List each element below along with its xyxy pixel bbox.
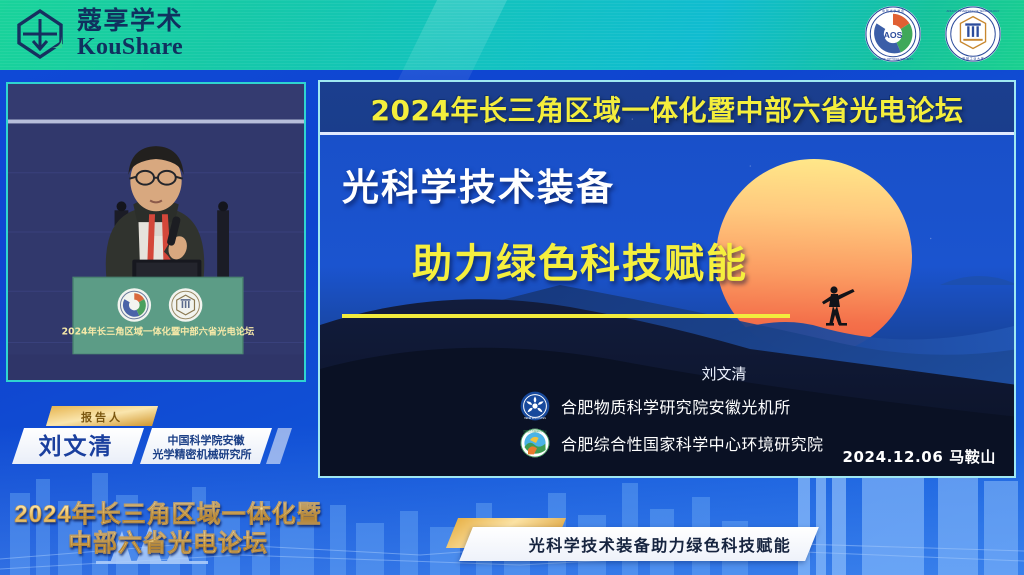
speaker-video-frame: 2024年长三角区域一体化暨中部六省光电论坛: [8, 84, 304, 380]
svg-text:ANHUI UNIVERSITY OF TECHNOLOGY: ANHUI UNIVERSITY OF TECHNOLOGY: [947, 9, 1000, 13]
hiker-silhouette-icon: [818, 283, 858, 327]
hefei-comprehensive-national-science-center-logo-icon: 合肥综合性国家科学中心: [520, 428, 550, 458]
koushare-diamond-logo-icon: [14, 8, 66, 60]
svg-text:中 国 光 学 学 会: 中 国 光 学 学 会: [882, 8, 904, 13]
conference-title-line2: 中部六省光电论坛: [8, 529, 328, 558]
brand-logo-block[interactable]: 蔻享学术 KouShare: [14, 8, 183, 60]
stream-page: 蔻享学术 KouShare AOS 中 国 光 学 学 会 CHINESE OP…: [0, 0, 1024, 575]
svg-text:CHINESE OPTICAL SOCIETY: CHINESE OPTICAL SOCIETY: [873, 57, 914, 61]
slide-affiliation-text: 合肥综合性国家科学中心环境研究院: [561, 431, 823, 455]
presentation-slide[interactable]: 2024年长三角区域一体化暨中部六省光电论坛: [318, 80, 1016, 478]
slide-affiliation-text: 合肥物质科学研究院安徽光机所: [561, 394, 791, 418]
brand-wordmark: 蔻享学术 KouShare: [77, 9, 183, 59]
svg-text:2024年长三角区域一体化暨中部六省光电论坛: 2024年长三角区域一体化暨中部六省光电论坛: [62, 326, 255, 338]
anhui-university-of-technology-logo-icon: ANHUI UNIVERSITY OF TECHNOLOGY 安 徽 工 业 大…: [944, 5, 1002, 63]
svg-text:安 徽 工 业 大 学: 安 徽 工 业 大 学: [962, 56, 983, 61]
slide-header-title: 2024年长三角区域一体化暨中部六省光电论坛: [371, 89, 964, 129]
slide-heading-secondary: 助力绿色科技赋能: [412, 231, 748, 289]
organizer-logos: AOS 中 国 光 学 学 会 CHINESE OPTICAL SOCIETY: [864, 5, 1002, 63]
svg-text:HEFEI INSTITUTES: HEFEI INSTITUTES: [524, 417, 546, 420]
header-bar: 蔻享学术 KouShare AOS 中 国 光 学 学 会 CHINESE OP…: [0, 0, 1024, 70]
slide-speaker-block: 刘文清 HEFEI INSTITUTES: [520, 363, 940, 458]
hefei-institutes-of-physical-science-logo-icon: HEFEI INSTITUTES: [520, 391, 550, 421]
slide-header-bar: 2024年长三角区域一体化暨中部六省光电论坛: [320, 82, 1014, 135]
slide-body: 光科学技术装备 助力绿色科技赋能 刘文清: [320, 135, 1014, 478]
slide-heading-primary: 光科学技术装备: [342, 157, 615, 211]
slide-date-location: 2024.12.06 马鞍山: [842, 446, 996, 467]
role-label: 报告人: [81, 410, 123, 424]
aos-chinese-optical-society-logo-icon: AOS 中 国 光 学 学 会 CHINESE OPTICAL SOCIETY: [864, 5, 922, 63]
live-video-panel[interactable]: 2024年长三角区域一体化暨中部六省光电论坛: [6, 82, 306, 382]
speaker-name: 刘文清: [39, 433, 114, 460]
conference-title-line1: 2024年长三角区域一体化暨: [8, 500, 328, 529]
slide-yellow-divider: [342, 314, 790, 318]
conference-title-block: 2024年长三角区域一体化暨 中部六省光电论坛: [8, 500, 328, 559]
speaker-affiliation-line1: 中国科学院安徽: [168, 433, 246, 447]
slide-affiliation-row: HEFEI INSTITUTES 合肥物质科学研究院安徽光机所: [520, 391, 940, 421]
svg-text:AOS: AOS: [884, 30, 903, 40]
brand-name-cn: 蔻享学术: [77, 9, 183, 35]
speaker-affiliation-line2: 光学精密机械研究所: [152, 447, 252, 461]
brand-name-en: KouShare: [77, 35, 183, 59]
talk-title-ribbon: 光科学技术装备助力绿色科技赋能: [452, 518, 812, 564]
ribbon-talk-title: 光科学技术装备助力绿色科技赋能: [510, 530, 810, 558]
speaker-lower-third-banner: 报告人 刘文清 中国科学院安徽 光学精密机械研究所: [10, 404, 310, 470]
slide-speaker-name: 刘文清: [554, 363, 894, 384]
